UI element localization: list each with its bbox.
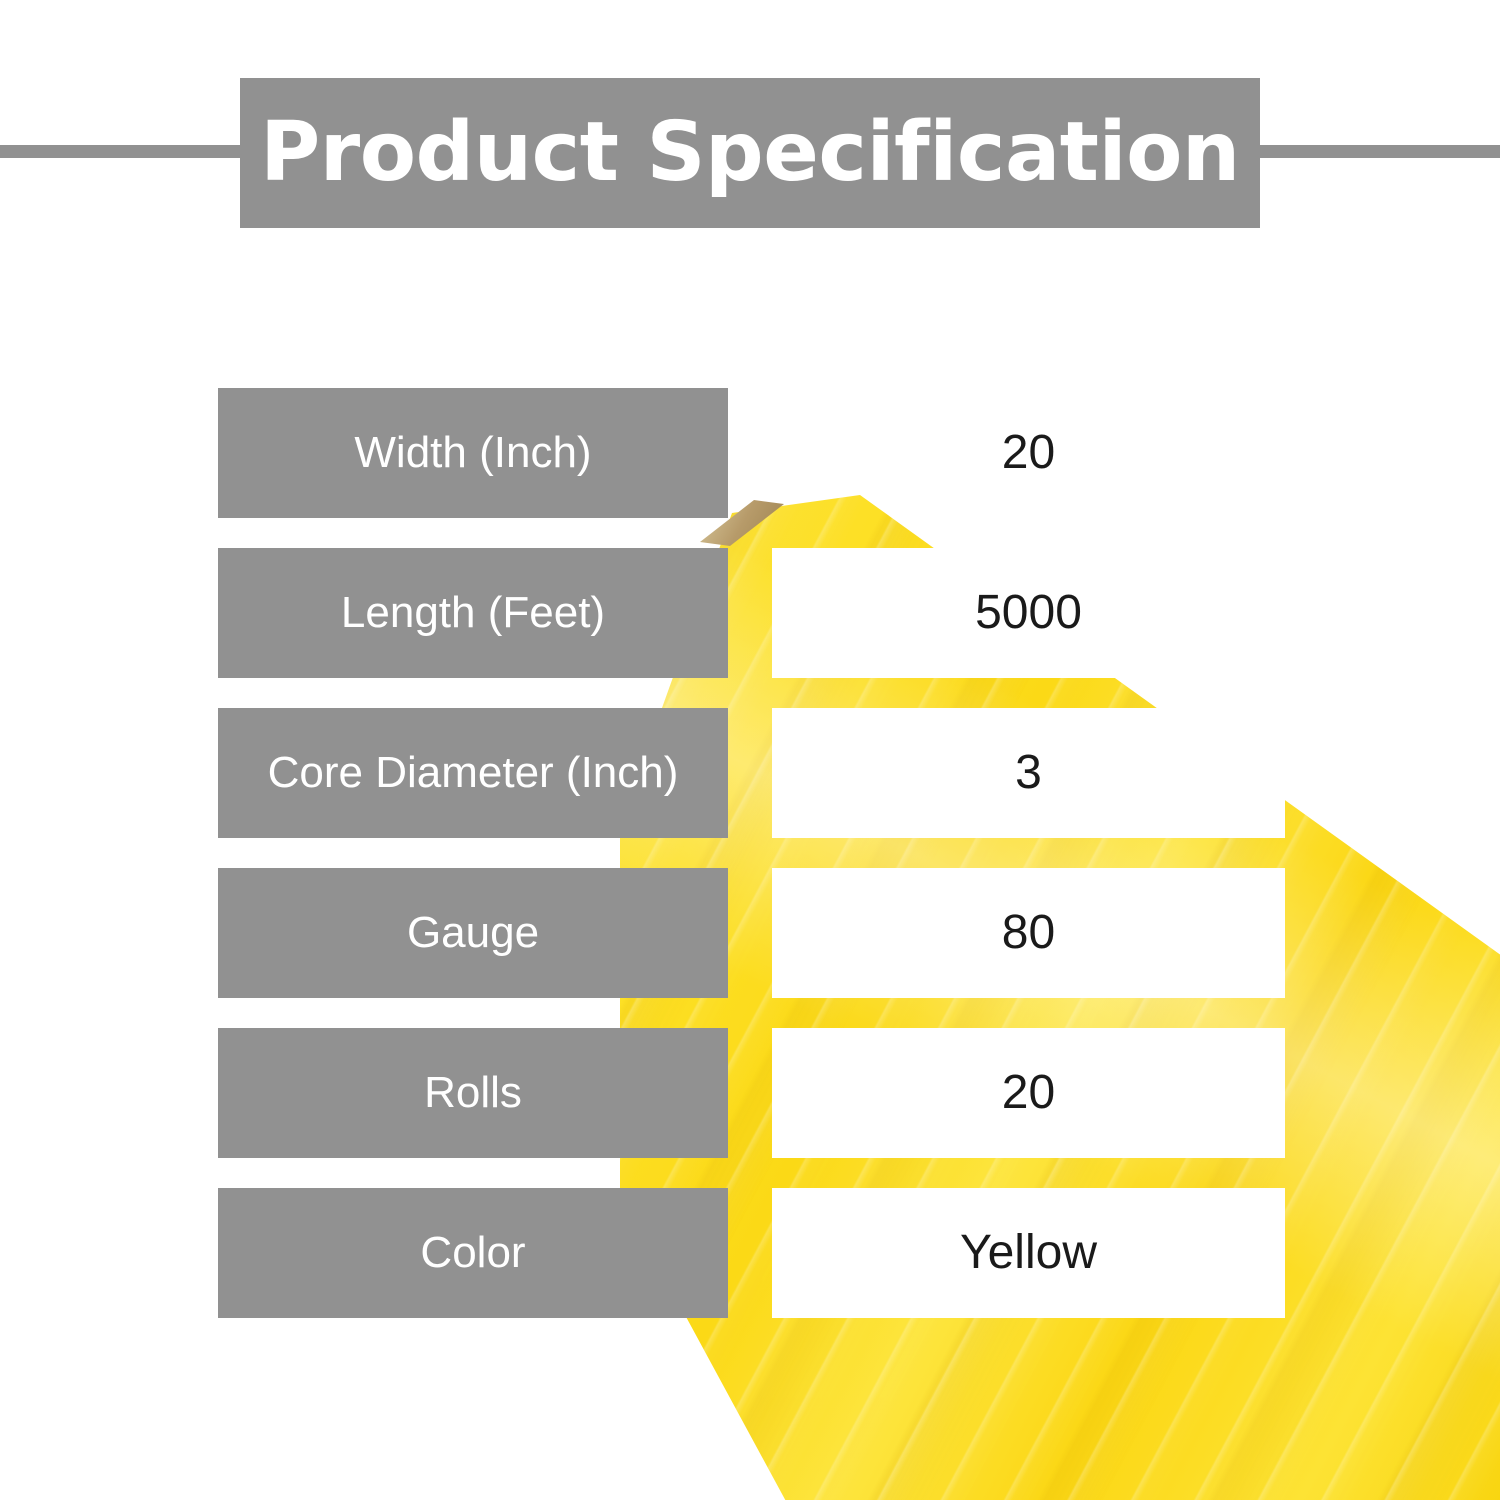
spec-value-text: 20 xyxy=(1002,1069,1055,1117)
spec-value-cell: 20 xyxy=(772,388,1285,518)
spec-value-text: Yellow xyxy=(960,1229,1097,1277)
spec-label-text: Width (Inch) xyxy=(354,429,591,477)
spec-label-cell: Core Diameter (Inch) xyxy=(218,708,728,838)
spec-value-text: 5000 xyxy=(975,589,1082,637)
spec-value-cell: 3 xyxy=(772,708,1285,838)
spec-value-cell: 5000 xyxy=(772,548,1285,678)
spec-label-text: Rolls xyxy=(424,1069,522,1117)
spec-label-cell: Color xyxy=(218,1188,728,1318)
spec-label-cell: Length (Feet) xyxy=(218,548,728,678)
table-row: Gauge 80 xyxy=(0,868,1500,998)
table-row: Color Yellow xyxy=(0,1188,1500,1318)
spec-label-text: Length (Feet) xyxy=(341,589,605,637)
header-rule-left xyxy=(0,145,250,158)
spec-label-text: Color xyxy=(420,1229,525,1277)
spec-label-cell: Gauge xyxy=(218,868,728,998)
spec-value-cell: 80 xyxy=(772,868,1285,998)
table-row: Length (Feet) 5000 xyxy=(0,548,1500,678)
product-specification-page: Product Specification Width (Inch) 20 Le… xyxy=(0,0,1500,1500)
header-rule-right xyxy=(1250,145,1500,158)
spec-value-cell: Yellow xyxy=(772,1188,1285,1318)
spec-value-text: 80 xyxy=(1002,909,1055,957)
page-title: Product Specification xyxy=(260,112,1240,194)
spec-value-text: 20 xyxy=(1002,429,1055,477)
table-row: Width (Inch) 20 xyxy=(0,388,1500,518)
title-banner: Product Specification xyxy=(240,78,1260,228)
spec-label-cell: Width (Inch) xyxy=(218,388,728,518)
spec-label-text: Core Diameter (Inch) xyxy=(268,749,679,797)
spec-value-cell: 20 xyxy=(772,1028,1285,1158)
page-header: Product Specification xyxy=(0,0,1500,300)
table-row: Core Diameter (Inch) 3 xyxy=(0,708,1500,838)
spec-label-text: Gauge xyxy=(407,909,539,957)
spec-label-cell: Rolls xyxy=(218,1028,728,1158)
table-row: Rolls 20 xyxy=(0,1028,1500,1158)
spec-value-text: 3 xyxy=(1015,749,1042,797)
